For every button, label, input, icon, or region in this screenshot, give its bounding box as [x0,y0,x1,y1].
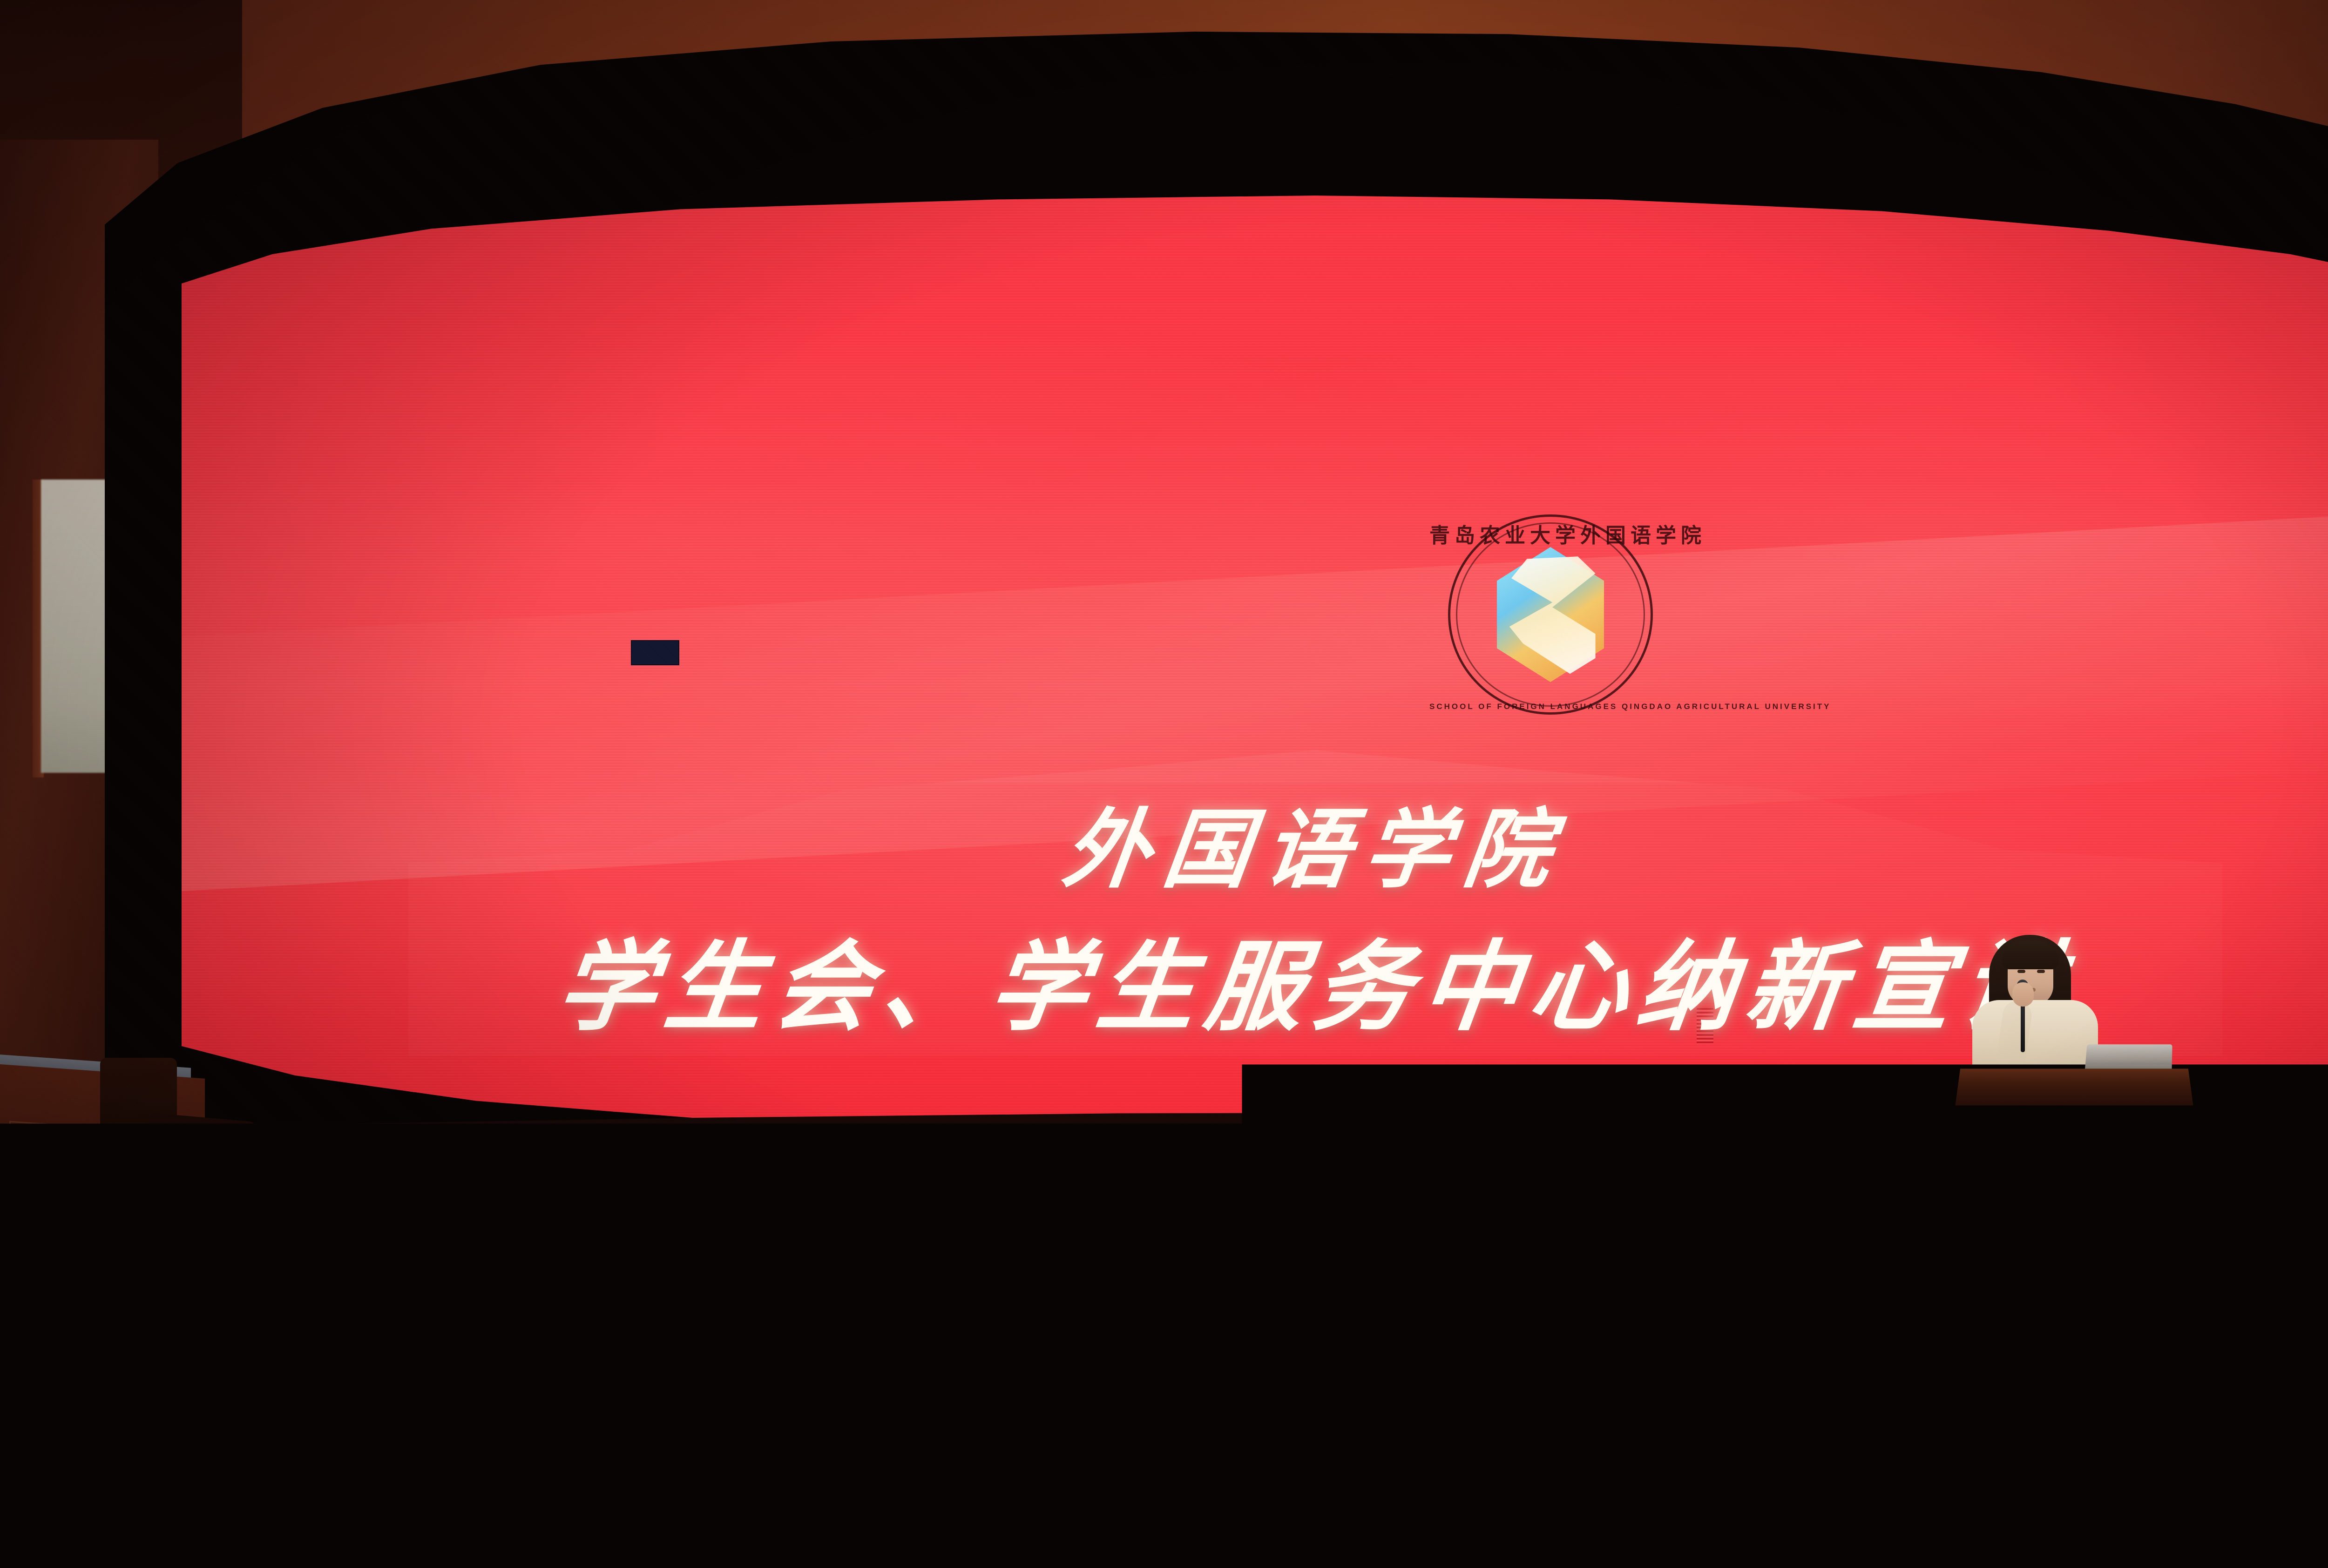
screen-title-line-1: 外国语学院 [182,780,2328,905]
audience-seat [0,1536,22,1567]
podium-floor-mic-capsule-icon [1720,1286,1727,1296]
auditorium-stage-photo: 青岛农业大学外国语学院 SCHOOL OF FOREIGN LANGUAGES … [0,0,2328,1568]
audience-silhouette-band [0,1518,2328,1568]
floor-mic-cable-main [1085,1329,1737,1387]
podium-emblem-year: 1951 [2038,1211,2120,1222]
podium-emblem-english: QINGDAO AGRICULTURAL UNIVERSITY [2038,1223,2120,1234]
podium-floor-mic-stem [1723,1295,1725,1364]
podium-cable-right-upper [2184,1089,2293,1243]
audience-head [70,1550,126,1568]
floor-mic-4-indicator [1285,1366,1295,1371]
speaker-hand [2012,982,2034,1007]
speaker-hair-front [2002,940,2059,969]
dead-led-panel-block [631,640,679,665]
audience-head [2244,1544,2295,1568]
audience-head [140,1554,184,1568]
podium-base [1969,1299,2179,1331]
handheld-microphone-stem [2021,1001,2025,1052]
audience-seat [2225,1547,2242,1568]
podium-floor-mic-indicator [1718,1372,1728,1376]
logo-english-name: SCHOOL OF FOREIGN LANGUAGES QINGDAO AGRI… [1429,702,1672,711]
school-logo: 青岛农业大学外国语学院 SCHOOL OF FOREIGN LANGUAGES … [1429,517,1672,712]
floor-mic-1-indicator [1009,1366,1020,1371]
left-lit-doorway [41,480,106,773]
speaker-eye-left [2017,970,2025,973]
speaker-eye-right [2037,970,2045,973]
floor-mic-2-indicator [1043,1366,1053,1371]
stage-wood-block-1 [1155,1369,1177,1388]
logo-chinese-name: 青岛农业大学外国语学院 [1429,519,1672,548]
floor-mic-3-indicator [1251,1366,1261,1371]
stage-wood-block-2 [1779,1363,1801,1383]
